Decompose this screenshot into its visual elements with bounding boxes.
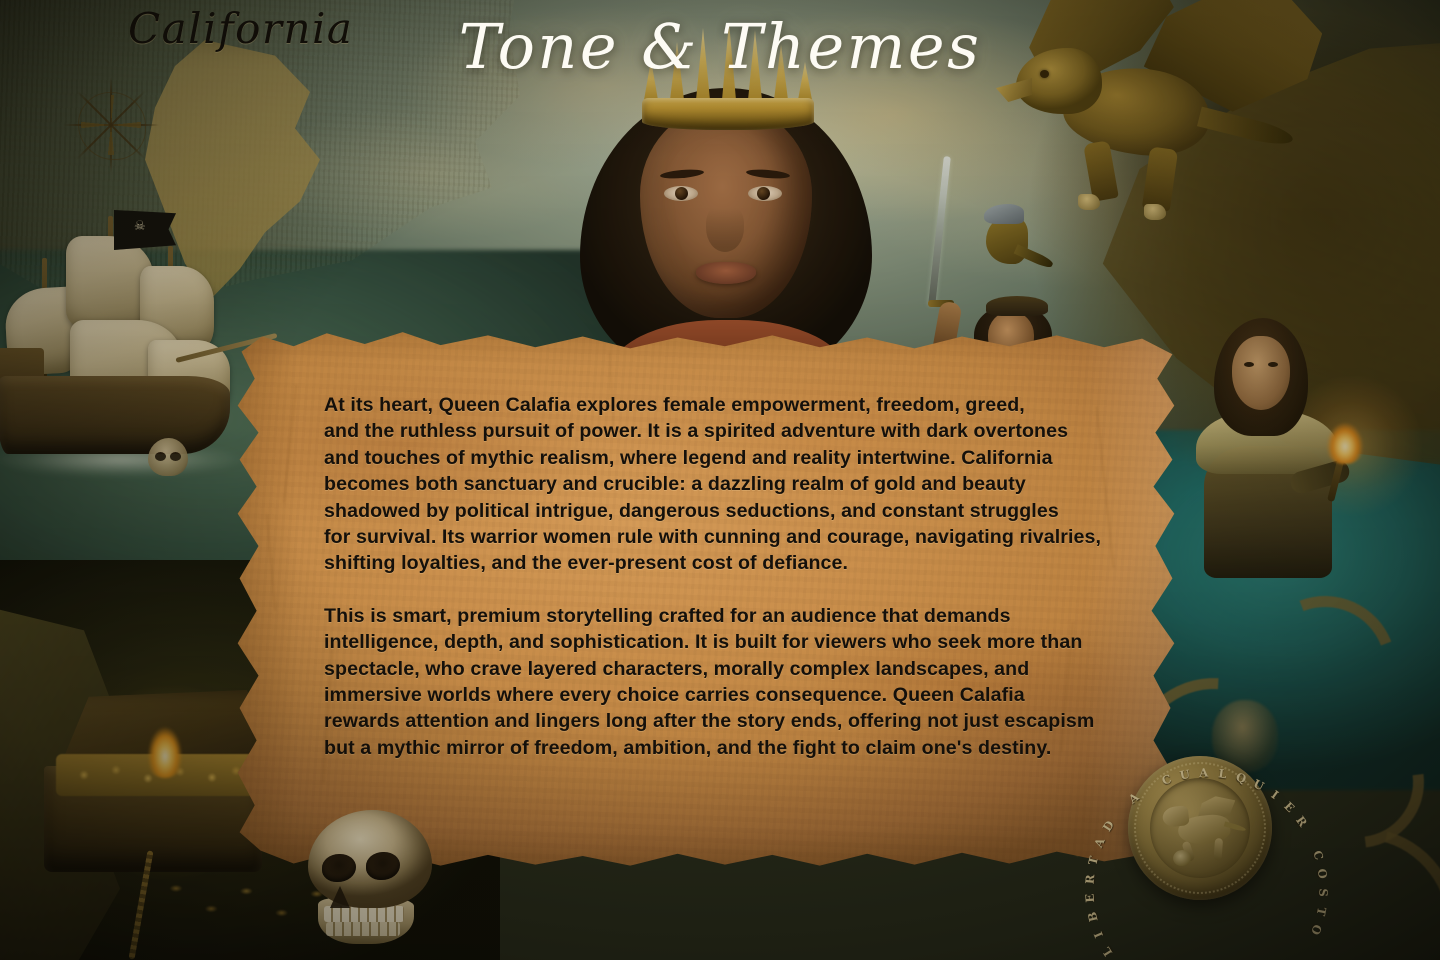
seal-legend-char: A xyxy=(1199,766,1208,780)
griffin-tail xyxy=(1197,107,1295,150)
torchwoman-eye-left xyxy=(1244,362,1254,367)
queen-lips xyxy=(696,262,756,284)
seal-legend-char: U xyxy=(1251,776,1266,793)
seal-legend-char: A xyxy=(1126,790,1142,807)
pirate-galleon: ☠ xyxy=(0,180,270,480)
seal-legend-char: T xyxy=(1314,906,1329,917)
seal-legend-char: Q xyxy=(1234,770,1248,786)
torch-bearing-woman xyxy=(1186,318,1386,578)
human-skull-icon xyxy=(300,810,434,950)
seal-griffin-icon xyxy=(1159,790,1244,868)
torchwoman-eye-right xyxy=(1268,362,1278,367)
griffin-seal-coin: LIBERTAD A CUALQUIER COSTO xyxy=(1121,749,1279,907)
ship-hull xyxy=(0,376,230,454)
seal-legend-char: U xyxy=(1179,767,1191,783)
seal-legend-char: O xyxy=(1315,868,1330,880)
queen-iris-right xyxy=(757,187,770,200)
small-skull-icon xyxy=(148,438,188,476)
jolly-roger-flag-icon: ☠ xyxy=(114,210,176,250)
torch-flame-icon xyxy=(1324,418,1366,464)
griffin-leg-rear xyxy=(1142,146,1178,211)
paragraph-1: At its heart, Queen Calafia explores fem… xyxy=(324,392,1108,577)
compass-rose-icon xyxy=(62,76,160,174)
griffin-claw-rear xyxy=(1144,204,1166,220)
paragraph-2: This is smart, premium storytelling craf… xyxy=(324,603,1108,761)
poster-canvas: California xyxy=(0,0,1440,960)
seal-legend-char: L xyxy=(1218,766,1228,781)
parchment-scroll: At its heart, Queen Calafia explores fem… xyxy=(232,330,1180,870)
griffin-claw-front xyxy=(1078,194,1100,210)
queen-iris-left xyxy=(675,187,688,200)
seal-legend-char: R xyxy=(1083,874,1098,885)
queen-nose xyxy=(706,204,744,252)
skull-teeth-lower xyxy=(326,922,400,936)
warrior-hat xyxy=(986,296,1048,316)
page-title: Tone & Themes xyxy=(0,16,1440,78)
skull-and-bones-icon: ☠ xyxy=(134,220,146,233)
seal-legend-char: S xyxy=(1316,888,1330,897)
queen-portrait xyxy=(556,34,896,364)
seal-legend-char: C xyxy=(1160,772,1173,788)
skull-teeth-upper xyxy=(324,906,404,922)
chest-flame-icon xyxy=(142,718,188,778)
seal-skull-icon xyxy=(1172,849,1192,867)
seal-legend-char: E xyxy=(1082,893,1097,903)
crown-band xyxy=(642,98,814,130)
scroll-body-copy: At its heart, Queen Calafia explores fem… xyxy=(324,392,1108,761)
torchwoman-face xyxy=(1232,336,1290,410)
